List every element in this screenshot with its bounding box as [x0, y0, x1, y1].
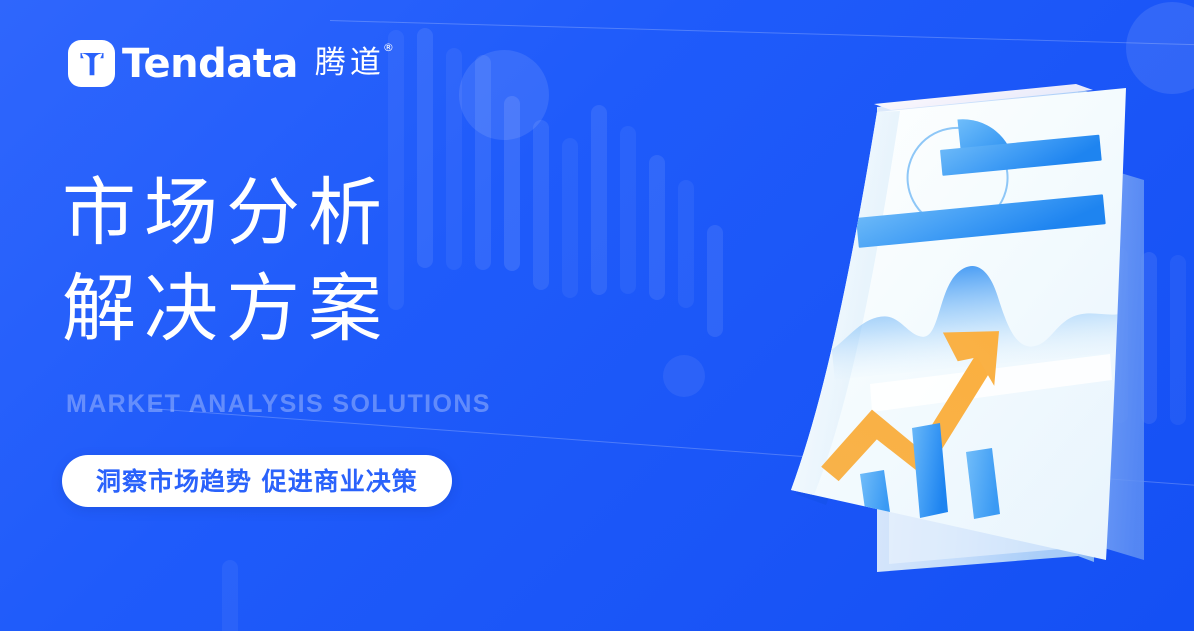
- headline-line-2: 解决方案: [62, 272, 390, 346]
- logo-chinese-text: 腾道: [315, 45, 385, 81]
- page-title: 市场分析 解决方案: [62, 176, 390, 346]
- marketing-banner: Tendata 腾道 ® 市场分析 解决方案 MARKET ANALYSIS S…: [0, 0, 1194, 631]
- bg-bar-9: [620, 126, 636, 294]
- banner-content: Tendata 腾道 ® 市场分析 解决方案 MARKET ANALYSIS S…: [62, 0, 582, 631]
- bg-bar-10: [649, 155, 665, 300]
- analytics-report-illustration: [674, 0, 1194, 631]
- logo-chinese-name: 腾道 ®: [315, 48, 385, 79]
- brand-logo[interactable]: Tendata 腾道 ®: [68, 40, 385, 87]
- headline-line-1: 市场分析: [62, 170, 390, 256]
- tagline-text: 洞察市场趋势 促进商业决策: [96, 469, 418, 494]
- logo-wordmark: Tendata: [122, 44, 298, 84]
- subtitle: MARKET ANALYSIS SOLUTIONS: [66, 390, 491, 419]
- tendata-sprout-icon: [68, 40, 115, 87]
- registered-trademark-icon: ®: [383, 42, 398, 53]
- bg-bar-8: [591, 105, 607, 295]
- tagline-badge[interactable]: 洞察市场趋势 促进商业决策: [62, 455, 452, 507]
